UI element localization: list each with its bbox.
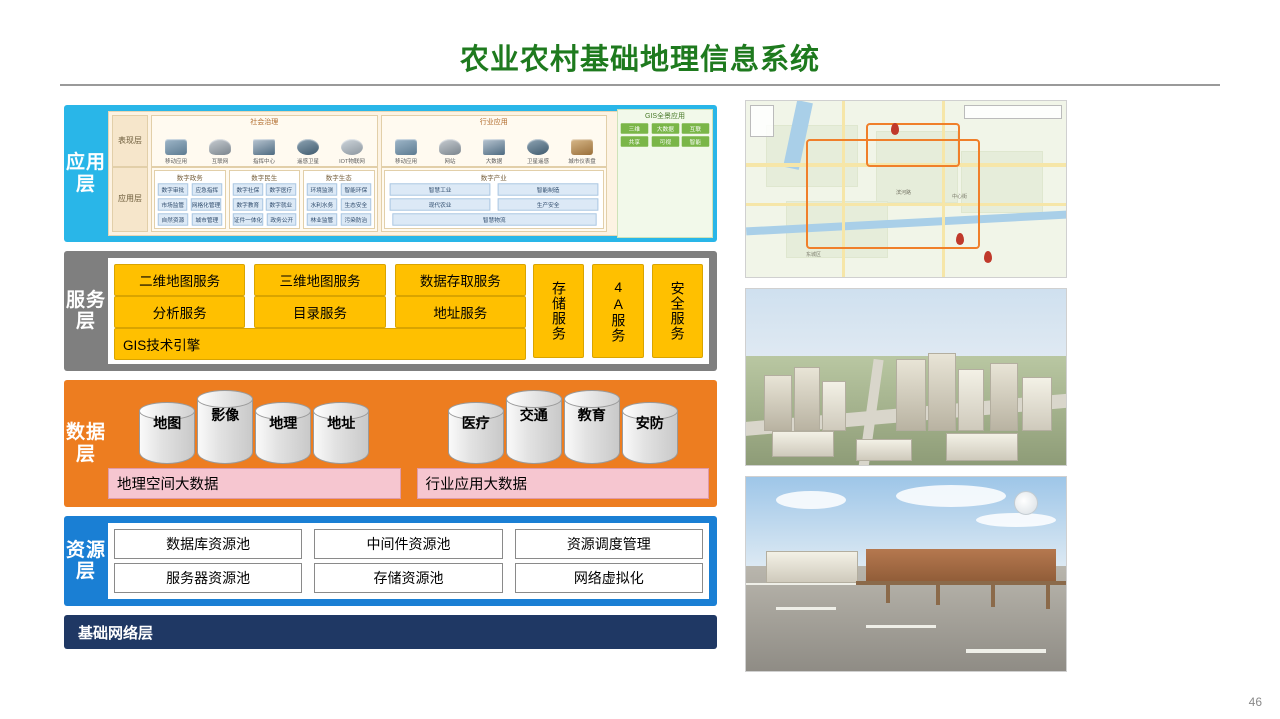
group-head: 数字政务 xyxy=(155,171,225,183)
layer-resource-label: 资源层 xyxy=(64,523,108,599)
group-head: 数字生态 xyxy=(304,171,374,183)
gis-tag: 互联 xyxy=(682,123,709,133)
gis-tag: 智能 xyxy=(682,136,709,146)
page-number: 46 xyxy=(1249,695,1262,709)
icon-caption: 移动应用 xyxy=(165,156,187,164)
app-side-top: 表现层 xyxy=(112,115,148,167)
app-icon-globe: 互联网 xyxy=(200,139,240,165)
tag: 政务公开 xyxy=(266,213,296,225)
app-group-egov: 数字政务 数字审批应急指挥 市场监管网格化管理 自然资源城市管理 xyxy=(154,170,226,229)
resource-network-virtualization[interactable]: 网络虚拟化 xyxy=(515,563,703,593)
resource-server-pool[interactable]: 服务器资源池 xyxy=(114,563,302,593)
tag: 生态安全 xyxy=(341,198,371,210)
layer-application-label: 应用层 xyxy=(64,111,108,236)
data-cylinder-education: 教育 xyxy=(564,390,620,464)
tag: 证件一体化 xyxy=(232,213,262,225)
icon-caption: 指挥中心 xyxy=(253,156,275,164)
service-4a[interactable]: 4A服务 xyxy=(592,264,643,358)
layer-service-body: 二维地图服务 三维地图服务 数据存取服务 分析服务 目录服务 地址服务 GIS技… xyxy=(108,258,709,364)
tag: 网格化管理 xyxy=(191,198,221,210)
icon-caption: 大数据 xyxy=(485,156,502,164)
app-panel-industry-head: 行业应用 xyxy=(382,116,607,127)
gis-tag: 大数据 xyxy=(651,123,678,133)
tag: 应急指挥 xyxy=(192,183,222,195)
map-top-toolbar[interactable] xyxy=(964,105,1062,119)
gis-tag: 共享 xyxy=(621,136,648,146)
tag: 污染防治 xyxy=(341,213,371,225)
map-pin-icon xyxy=(984,251,992,263)
tag: 数字审批 xyxy=(158,183,188,195)
service-security[interactable]: 安全服务 xyxy=(652,264,703,358)
app-icon-satellite: 遥感卫星 xyxy=(288,139,328,165)
app-group-livelihood: 数字民生 数字社保数字医疗 数字教育数字就业 证件一体化政务公开 xyxy=(229,170,301,229)
icon-caption: 移动应用 xyxy=(394,156,416,164)
app-icon-sensor: IOT物联网 xyxy=(332,139,372,165)
data-group-industry: 医疗 交通 教育 安防 行业应用大数据 xyxy=(417,388,710,499)
data-banner-industry: 行业应用大数据 xyxy=(417,468,710,499)
monitor-icon xyxy=(253,139,275,155)
app-side-bottom: 应用层 xyxy=(112,167,148,232)
service-storage-label: 存储服务 xyxy=(551,281,566,341)
resource-scheduling[interactable]: 资源调度管理 xyxy=(515,529,703,559)
data-group-geo: 地图 影像 地理 地址 地理空间大数据 xyxy=(108,388,401,499)
resource-middleware-pool[interactable]: 中间件资源池 xyxy=(314,529,502,559)
layer-application-body: 表现层 社会治理 移动应用 互联网 指挥中心 遥感卫星 IOT物联网 xyxy=(108,111,710,236)
mobile-icon xyxy=(395,139,417,155)
cylinder-label: 医疗 xyxy=(448,416,504,430)
layer-data: 数据层 地图 影像 地理 地址 地理空间大数据 医疗 xyxy=(64,380,717,507)
service-catalog[interactable]: 目录服务 xyxy=(254,296,385,328)
data-cylinder-medical: 医疗 xyxy=(448,402,504,464)
globe-icon xyxy=(209,139,231,155)
tag: 自然资源 xyxy=(158,213,188,225)
icon-caption: 网站 xyxy=(444,156,455,164)
tag: 生产安全 xyxy=(497,198,598,210)
tag: 数字教育 xyxy=(232,198,262,210)
mobile-icon xyxy=(165,139,187,155)
sensor-icon xyxy=(341,139,363,155)
tag: 数字社保 xyxy=(232,183,262,195)
map-pin-icon xyxy=(956,233,964,245)
tag: 智慧工业 xyxy=(389,183,490,195)
layer-resource: 资源层 数据库资源池 中间件资源池 资源调度管理 服务器资源池 存储资源池 网络… xyxy=(64,516,717,606)
layer-data-body: 地图 影像 地理 地址 地理空间大数据 医疗 交通 教育 安防 xyxy=(108,388,709,499)
app-icon-monitor: 指挥中心 xyxy=(244,139,284,165)
dashboard-icon xyxy=(571,139,593,155)
app-icon-satellite-2: 卫星遥感 xyxy=(518,139,558,165)
tag: 智能制造 xyxy=(497,183,598,195)
resource-storage-pool[interactable]: 存储资源池 xyxy=(314,563,502,593)
gis-panorama-head: GIS全景应用 xyxy=(618,110,712,122)
icon-caption: 遥感卫星 xyxy=(297,156,319,164)
cylinder-label: 地图 xyxy=(139,416,195,430)
tag: 智慧物流 xyxy=(392,213,596,225)
app-panel-industry: 行业应用 移动应用 网站 大数据 卫星遥感 城市仪表盘 xyxy=(381,115,608,167)
tag: 市场监管 xyxy=(158,198,188,210)
app-icon-dashboard: 城市仪表盘 xyxy=(562,139,602,165)
gis-tag: 三维 xyxy=(621,123,648,133)
layer-resource-body: 数据库资源池 中间件资源池 资源调度管理 服务器资源池 存储资源池 网络虚拟化 xyxy=(108,523,709,599)
service-gis-engine[interactable]: GIS技术引擎 xyxy=(114,328,526,360)
app-groups-industry: 数字产业 智慧工业智能制造 现代农业生产安全 智慧物流 xyxy=(381,167,608,232)
app-panel-social-head: 社会治理 xyxy=(152,116,377,127)
page-title: 农业农村基础地理信息系统 xyxy=(0,36,1280,78)
icon-caption: 卫星遥感 xyxy=(527,156,549,164)
data-cylinder-geography: 地理 xyxy=(255,402,311,464)
service-storage[interactable]: 存储服务 xyxy=(533,264,584,358)
cylinder-label: 影像 xyxy=(197,408,253,422)
icon-caption: 互联网 xyxy=(212,156,229,164)
data-cylinder-address: 地址 xyxy=(313,402,369,464)
sun-icon xyxy=(1014,491,1038,515)
tag: 数字就业 xyxy=(266,198,296,210)
satellite-icon xyxy=(527,139,549,155)
app-gis-panorama: GIS全景应用 三维大数据互联 共享可视智能 xyxy=(617,109,713,238)
browser-icon xyxy=(439,139,461,155)
icon-caption: 城市仪表盘 xyxy=(568,156,596,164)
city-3d-screenshot[interactable] xyxy=(745,288,1067,466)
data-banner-geo: 地理空间大数据 xyxy=(108,468,401,499)
app-icon-database: 大数据 xyxy=(474,139,514,165)
cylinder-label: 教育 xyxy=(564,408,620,422)
map-pin-icon xyxy=(891,123,899,135)
app-groups-social: 数字政务 数字审批应急指挥 市场监管网格化管理 自然资源城市管理 数字民生 数字… xyxy=(151,167,378,232)
data-cylinder-security: 安防 xyxy=(622,402,678,464)
app-icon-browser: 网站 xyxy=(430,139,470,165)
icon-caption: IOT物联网 xyxy=(340,156,366,164)
database-icon xyxy=(483,139,505,155)
tag: 智能环保 xyxy=(341,183,371,195)
service-3d-map[interactable]: 三维地图服务 xyxy=(254,264,385,296)
service-4a-label: 4A服务 xyxy=(611,279,626,343)
group-head: 数字民生 xyxy=(230,171,300,183)
cylinder-label: 地理 xyxy=(255,416,311,430)
data-cylinder-map: 地图 xyxy=(139,402,195,464)
tag: 环境监测 xyxy=(307,183,337,195)
app-icon-mobile-2: 移动应用 xyxy=(386,139,426,165)
cylinder-label: 交通 xyxy=(506,408,562,422)
layer-service: 服务层 二维地图服务 三维地图服务 数据存取服务 分析服务 目录服务 地址服务 xyxy=(64,251,717,371)
gis-tag: 可视 xyxy=(651,136,678,146)
layer-base-network: 基础网络层 xyxy=(64,615,717,649)
app-icon-mobile: 移动应用 xyxy=(156,139,196,165)
service-analysis[interactable]: 分析服务 xyxy=(114,296,245,328)
screenshot-column: 滨河路 中心街 东城区 xyxy=(745,100,1067,682)
data-cylinder-imagery: 影像 xyxy=(197,390,253,464)
tag: 林业监管 xyxy=(307,213,337,225)
tag: 城市管理 xyxy=(192,213,222,225)
map-route-screenshot[interactable]: 滨河路 中心街 东城区 xyxy=(745,100,1067,278)
app-panel-social: 社会治理 移动应用 互联网 指挥中心 遥感卫星 IOT物联网 xyxy=(151,115,378,167)
service-security-label: 安全服务 xyxy=(670,281,685,341)
map-pan-toolbar[interactable] xyxy=(750,105,774,137)
layer-base-network-label: 基础网络层 xyxy=(78,622,153,643)
service-data-access[interactable]: 数据存取服务 xyxy=(395,264,526,296)
resource-db-pool[interactable]: 数据库资源池 xyxy=(114,529,302,559)
satellite-icon xyxy=(297,139,319,155)
data-cylinder-traffic: 交通 xyxy=(506,390,562,464)
architecture-stack: 应用层 表现层 社会治理 移动应用 互联网 指挥中心 遥感卫星 IOT物联网 xyxy=(64,105,717,658)
cylinder-label: 地址 xyxy=(313,416,369,430)
tag: 水利水务 xyxy=(307,198,337,210)
slide-canvas: 农业农村基础地理信息系统 46 应用层 表现层 社会治理 移动应用 互联网 指挥… xyxy=(0,0,1280,719)
service-2d-map[interactable]: 二维地图服务 xyxy=(114,264,245,296)
tag: 现代农业 xyxy=(389,198,490,210)
service-address[interactable]: 地址服务 xyxy=(395,296,526,328)
title-divider xyxy=(60,84,1220,86)
layer-service-label: 服务层 xyxy=(64,258,108,364)
street-view-screenshot[interactable] xyxy=(745,476,1067,672)
app-group-industry: 数字产业 智慧工业智能制造 现代农业生产安全 智慧物流 xyxy=(384,170,605,229)
group-head: 数字产业 xyxy=(385,171,604,183)
layer-application: 应用层 表现层 社会治理 移动应用 互联网 指挥中心 遥感卫星 IOT物联网 xyxy=(64,105,717,242)
cylinder-label: 安防 xyxy=(622,416,678,430)
app-group-eco: 数字生态 环境监测智能环保 水利水务生态安全 林业监管污染防治 xyxy=(303,170,375,229)
tag: 数字医疗 xyxy=(266,183,296,195)
layer-data-label: 数据层 xyxy=(64,388,108,499)
